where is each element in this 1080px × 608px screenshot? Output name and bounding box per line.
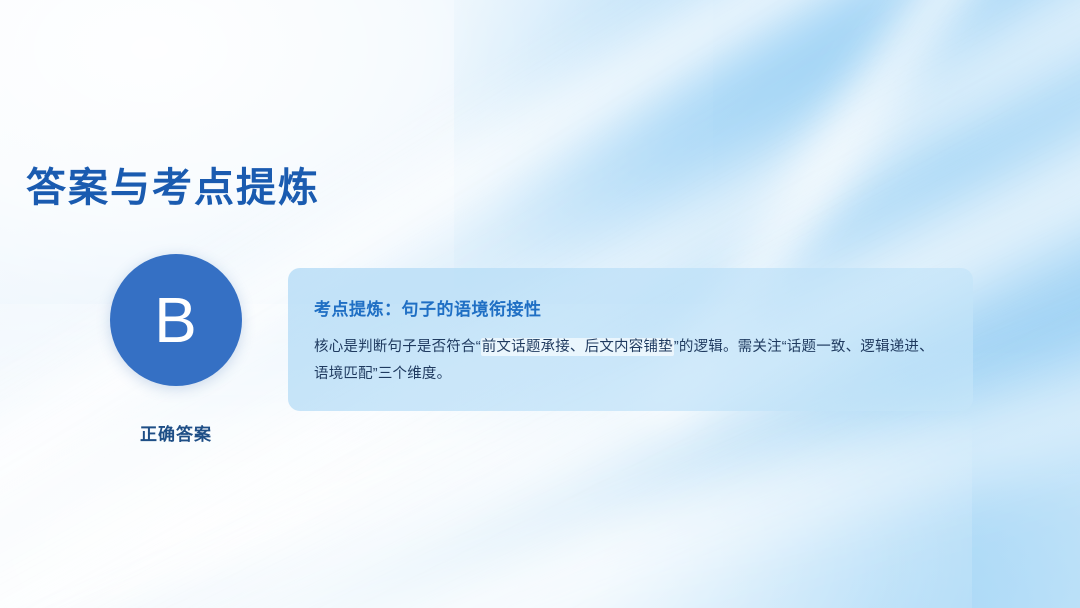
answer-letter: B (154, 288, 198, 352)
correct-answer-block: B 正确答案 (110, 254, 242, 445)
key-point-heading: 考点提炼：句子的语境衔接性 (314, 300, 945, 320)
body-text-highlight: 前文话题承接、后文内容铺垫 (481, 338, 674, 356)
key-point-body: 核心是判断句子是否符合“前文话题承接、后文内容铺垫”的逻辑。需关注“话题一致、逻… (314, 334, 945, 388)
answer-circle: B (110, 254, 242, 386)
key-point-card: 考点提炼：句子的语境衔接性 核心是判断句子是否符合“前文话题承接、后文内容铺垫”… (288, 268, 973, 411)
answer-caption: 正确答案 (110, 420, 242, 445)
body-text-prefix: 核心是判断句子是否符合“ (314, 339, 481, 355)
presentation-slide: 答案与考点提炼 B 正确答案 考点提炼：句子的语境衔接性 核心是判断句子是否符合… (0, 0, 1080, 608)
page-title: 答案与考点提炼 (26, 164, 320, 212)
